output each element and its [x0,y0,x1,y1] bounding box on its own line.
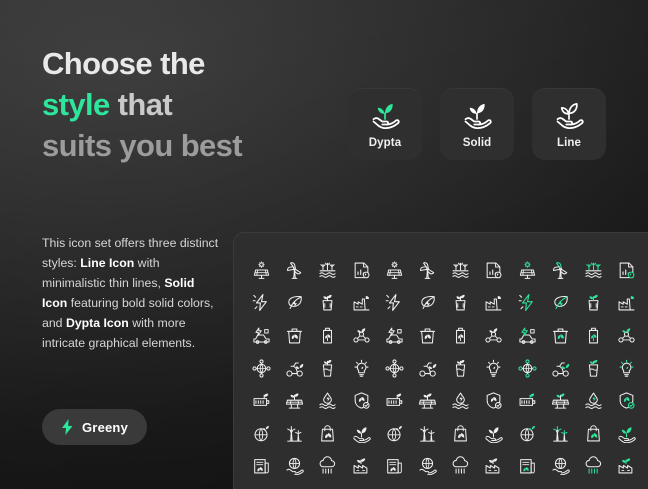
icon-grid [245,254,643,482]
page-title: Choose the style that suits you best [42,44,342,167]
eco-shield-check-icon[interactable] [477,384,510,417]
eco-bulb-icon[interactable] [345,352,378,385]
earth-idea-icon[interactable] [245,417,278,450]
eco-battery-icon[interactable] [577,319,610,352]
style-card-label: Line [557,137,581,149]
hydro-water-icon[interactable] [311,254,344,287]
globe-hand-icon[interactable] [278,450,311,483]
molecule-leaf-icon[interactable] [345,319,378,352]
wind-farm-icon[interactable] [278,417,311,450]
hydro-water-icon[interactable] [444,254,477,287]
battery-charge-icon[interactable] [245,384,278,417]
blurb-bold-line-icon: Line Icon [80,256,134,270]
greeny-button[interactable]: Greeny [42,409,147,445]
eco-news-icon[interactable] [245,450,278,483]
eco-bulb-icon[interactable] [477,352,510,385]
eco-bag-leaf-icon[interactable] [577,417,610,450]
eco-bulb-icon[interactable] [610,352,643,385]
eco-scooter-icon[interactable] [544,352,577,385]
recycle-bin-icon[interactable] [411,319,444,352]
eco-shield-check-icon[interactable] [345,384,378,417]
water-glass-leaf-icon[interactable] [444,352,477,385]
blurb-bold-dypta-icon: Dypta Icon [66,316,129,330]
leaf-energy-icon[interactable] [411,287,444,320]
eco-bag-leaf-icon[interactable] [311,417,344,450]
solar-array-icon[interactable] [278,384,311,417]
eco-factory-icon[interactable] [345,287,378,320]
headline-line-1: Choose the [42,44,342,85]
recycle-bin-icon[interactable] [278,319,311,352]
plant-in-hand-icon[interactable] [610,417,643,450]
headline-line-2-rest: that [110,87,172,122]
poster-canvas: Choose the style that suits you best Dyp… [0,0,648,489]
description-paragraph: This icon set offers three distinct styl… [42,234,222,353]
plant-in-hand-icon[interactable] [345,417,378,450]
lightning-bolt-icon[interactable] [378,287,411,320]
hydro-energy-icon[interactable] [311,384,344,417]
eco-shield-check-icon[interactable] [610,384,643,417]
eco-scooter-icon[interactable] [278,352,311,385]
plant-in-hand-solid-icon [460,100,494,130]
eco-battery-icon[interactable] [311,319,344,352]
style-card-dypta[interactable]: Dypta [348,88,422,160]
globe-hand-icon[interactable] [544,450,577,483]
wind-turbine-icon[interactable] [411,254,444,287]
hydro-water-icon[interactable] [577,254,610,287]
plant-sprout-icon[interactable] [311,287,344,320]
headline-line-2: style that [42,85,342,126]
wind-turbine-icon[interactable] [544,254,577,287]
solar-panel-icon[interactable] [378,254,411,287]
style-card-label: Solid [463,137,492,149]
water-glass-leaf-icon[interactable] [577,352,610,385]
rain-cloud-icon[interactable] [444,450,477,483]
eco-factory-icon[interactable] [477,287,510,320]
earth-idea-icon[interactable] [511,417,544,450]
style-card-label: Dypta [369,137,401,149]
style-card-line[interactable]: Line [532,88,606,160]
molecule-leaf-icon[interactable] [477,319,510,352]
globe-hand-icon[interactable] [411,450,444,483]
rain-cloud-icon[interactable] [577,450,610,483]
headline-line-3: suits you best [42,126,342,167]
style-card-list: Dypta Solid [348,88,606,160]
solar-panel-icon[interactable] [245,254,278,287]
wind-turbine-icon[interactable] [278,254,311,287]
style-card-solid[interactable]: Solid [440,88,514,160]
eco-news-icon[interactable] [378,450,411,483]
molecule-leaf-icon[interactable] [610,319,643,352]
solar-array-icon[interactable] [411,384,444,417]
leaf-energy-icon[interactable] [278,287,311,320]
plant-in-hand-line-icon [552,100,586,130]
plant-in-hand-icon[interactable] [477,417,510,450]
wind-farm-icon[interactable] [544,417,577,450]
plant-in-hand-dypta-icon [368,100,402,130]
water-glass-leaf-icon[interactable] [311,352,344,385]
plant-sprout-icon[interactable] [444,287,477,320]
battery-charge-icon[interactable] [511,384,544,417]
lightning-bolt-icon[interactable] [245,287,278,320]
hydro-energy-icon[interactable] [444,384,477,417]
globe-network-icon[interactable] [245,352,278,385]
eco-battery-icon[interactable] [444,319,477,352]
plant-sprout-icon[interactable] [577,287,610,320]
report-chart-icon[interactable] [345,254,378,287]
eco-scooter-icon[interactable] [411,352,444,385]
headline-accent-word: style [42,87,110,122]
globe-network-icon[interactable] [378,352,411,385]
eco-factory-icon[interactable] [610,287,643,320]
lightning-bolt-icon[interactable] [511,287,544,320]
eco-bag-leaf-icon[interactable] [444,417,477,450]
earth-idea-icon[interactable] [378,417,411,450]
report-chart-icon[interactable] [610,254,643,287]
ev-charge-car-icon[interactable] [511,319,544,352]
globe-network-icon[interactable] [511,352,544,385]
eco-news-icon[interactable] [511,450,544,483]
ev-charge-car-icon[interactable] [378,319,411,352]
green-factory-icon[interactable] [477,450,510,483]
report-chart-icon[interactable] [477,254,510,287]
hydro-energy-icon[interactable] [577,384,610,417]
wind-farm-icon[interactable] [411,417,444,450]
recycle-bin-icon[interactable] [544,319,577,352]
leaf-energy-icon[interactable] [544,287,577,320]
solar-panel-icon[interactable] [511,254,544,287]
solar-array-icon[interactable] [544,384,577,417]
battery-charge-icon[interactable] [378,384,411,417]
icon-grid-panel [233,232,648,489]
green-factory-icon[interactable] [345,450,378,483]
rain-cloud-icon[interactable] [311,450,344,483]
green-factory-icon[interactable] [610,450,643,483]
greeny-button-label: Greeny [82,420,128,435]
ev-charge-car-icon[interactable] [245,319,278,352]
lightning-bolt-icon [61,419,74,435]
